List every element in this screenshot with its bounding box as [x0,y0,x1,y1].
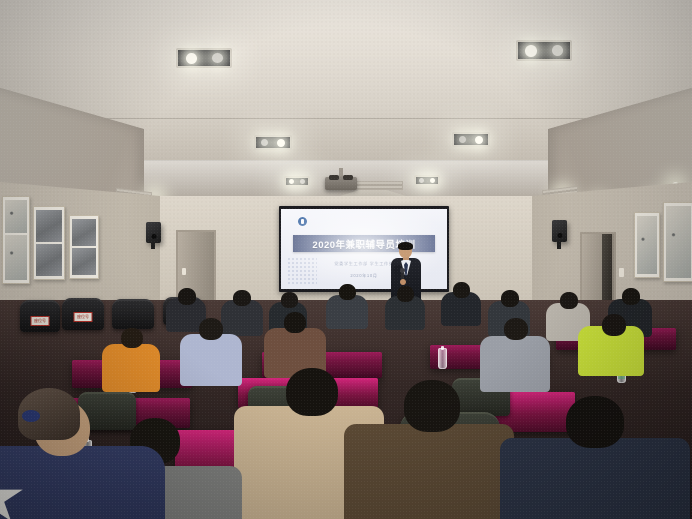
seat-tag: 座位号 [74,312,93,322]
lamp [261,139,268,146]
presenter-hand [400,279,406,285]
conference-room-photo: 2020年兼职辅导员培训 党委学生工作部 学生工作处 2020年10月 座位号 … [0,0,692,519]
person-torso [500,438,690,519]
lamp [419,178,424,183]
person-head [397,286,414,302]
scroll-artwork [36,244,62,276]
seat-tag-text: 座位号 [77,315,89,319]
lamp [289,179,294,184]
person-torso [480,336,550,392]
person-torso [102,344,160,392]
person-head [284,312,306,333]
seat-tag-text: 座位号 [34,319,46,323]
ceiling-light-fixture [452,132,490,147]
person-head [404,380,460,432]
lamp [186,53,197,64]
framed-scroll [33,206,65,280]
person-head [233,290,251,306]
ceiling-light-fixture [414,175,440,186]
door-knob-icon[interactable] [182,268,186,275]
scroll-artwork [72,248,96,275]
person-sweater [0,446,165,519]
speaker-bracket [557,242,561,249]
doorway-opening [602,234,612,308]
air-vent [355,181,403,190]
framed-scroll [663,202,692,282]
speaker-bracket [151,243,155,249]
ceiling-light-fixture [284,176,310,187]
projector-lens [343,175,353,180]
framed-scroll [2,196,30,284]
right-wall-speaker [552,220,567,242]
scroll-artwork [637,216,657,274]
person-head [339,284,356,300]
ceiling-light-fixture [254,135,292,150]
person-head [121,328,143,348]
person-torso [344,424,514,519]
scroll-artwork [72,219,96,246]
lamp [525,45,537,57]
person-head [501,290,519,307]
person-head [622,288,640,305]
presenter-hair [398,242,413,250]
projector-lens [329,175,339,180]
door-knob-icon[interactable] [619,268,624,277]
scroll-artwork [666,206,691,278]
person-head [199,318,223,340]
person-head [286,368,338,416]
person-head [566,396,624,448]
person-head [504,318,528,340]
lamp [552,45,563,56]
left-wall-speaker [146,222,161,243]
seat-tag: 座位号 [31,316,50,326]
person-head [178,288,196,305]
framed-scroll [634,212,660,278]
person-torso [180,334,242,386]
scroll-artwork [36,210,62,242]
lamp [300,179,305,184]
scroll-artwork [5,235,27,281]
lamp [475,136,483,144]
ceiling-light-fixture [176,48,232,68]
water-bottle [438,348,447,369]
hair-clip [22,410,40,422]
person-torso [326,295,368,329]
person-head [453,282,470,298]
ceiling-light-fixture [516,40,572,61]
lamp [277,139,285,147]
lamp [212,53,223,63]
lamp [430,178,435,183]
person-head [602,314,626,336]
chair: 座位号 [20,300,60,332]
person-head [560,292,578,309]
lamp [459,136,466,143]
chair [112,299,154,329]
scroll-artwork [5,200,27,233]
chair: 座位号 [62,298,104,330]
institution-logo-icon [298,217,307,226]
person-head [281,292,298,308]
framed-scroll [69,215,99,279]
